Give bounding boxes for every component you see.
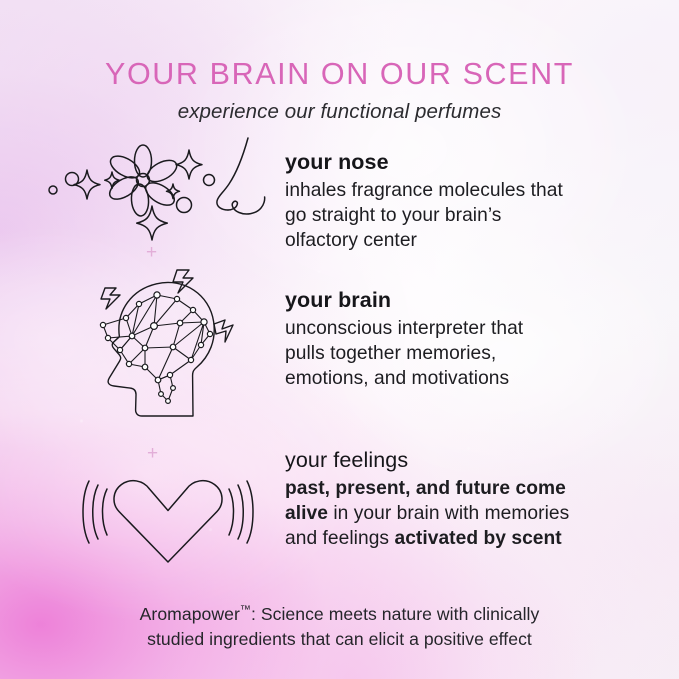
heart-vibration-icon [78,468,258,568]
step-1-illustration [40,138,280,248]
step-1-body-line-2: go straight to your brain’s [285,203,655,228]
bubble-4 [204,175,215,186]
head-brain-network-lightning-icon [62,268,272,428]
lightning-bolt-right [214,320,233,342]
bubble-2 [66,173,79,186]
sparkle-small-mid [105,172,120,188]
plus-separator-2: + [147,444,158,463]
sparkle-upper-right [176,150,202,179]
page-subtitle: experience our functional perfumes [0,100,679,124]
bubble-3 [177,198,192,213]
bubble-1 [49,186,57,194]
step-2-body-line-2: pulls together memories, [285,341,655,366]
sparkle-large-bottom [137,206,168,240]
step-1-text: your nose inhales fragrance molecules th… [285,150,655,254]
footer-line-1: Aromapower™: Science meets nature with c… [0,602,679,627]
poster-content: YOUR BRAIN ON OUR SCENT experience our f… [0,0,679,679]
trademark-symbol: ™ [240,604,251,616]
footer-text: : Science meets nature with clinically [251,604,539,624]
step-1-body-line-1: inhales fragrance molecules that [285,178,655,203]
step-1-heading: your nose [285,150,655,175]
lightning-bolt-top [173,270,193,293]
page-title: YOUR BRAIN ON OUR SCENT [0,57,679,92]
step-3-body-line-2: alive in your brain with memories [285,501,665,526]
step-2-text: your brain unconscious interpreter that … [285,288,655,392]
step-2-body-line-1: unconscious interpreter that [285,316,655,341]
nose-flower-sparkles-icon [40,138,280,248]
step-2-heading: your brain [285,288,655,313]
lightning-bolt-left [101,288,120,309]
sparkle-small-right [167,184,180,199]
nose-glyph [217,138,265,214]
step-3-illustration [78,468,258,568]
footer-note: Aromapower™: Science meets nature with c… [0,602,679,652]
step-1-body-line-3: olfactory center [285,228,655,253]
step-3-body-line-3: and feelings activated by scent [285,526,665,551]
step-2-illustration [62,268,272,428]
vibration-arcs-left [83,481,107,543]
step-3-text: your feelings past, present, and future … [285,448,665,552]
step-3-body-line-1: past, present, and future come [285,476,665,501]
step-2-body: unconscious interpreter that pulls toget… [285,316,655,392]
sparkle-large-left [74,170,100,199]
heart-outline [114,481,222,562]
plus-separator-1: + [146,243,157,262]
step-3-heading: your feelings [285,448,665,473]
step-2-body-line-3: emotions, and motivations [285,366,655,391]
footer-line-2: studied ingredients that can elicit a po… [0,627,679,652]
footer-brand: Aromapower [140,604,240,624]
poster-root: YOUR BRAIN ON OUR SCENT experience our f… [0,0,679,679]
vibration-arcs-right [229,481,253,543]
step-3-body: past, present, and future come alive in … [285,476,665,552]
step-1-body: inhales fragrance molecules that go stra… [285,178,655,254]
